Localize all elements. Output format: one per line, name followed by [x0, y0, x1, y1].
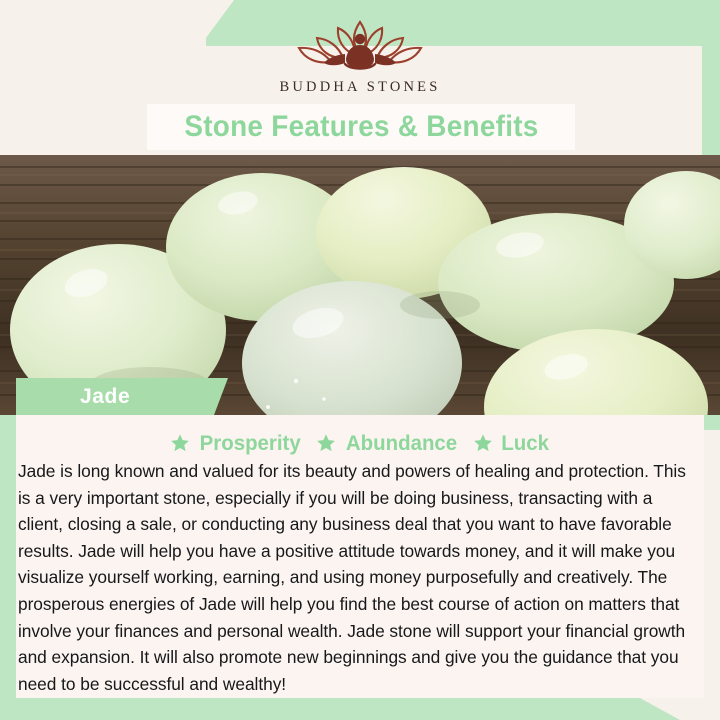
- stone-info-card: BUDDHA STONES Stone Features & Benefits: [0, 0, 720, 720]
- brand-name: BUDDHA STONES: [280, 79, 441, 96]
- benefit-item-prosperity: Prosperity: [170, 431, 303, 456]
- stone-name-badge: Jade: [16, 378, 228, 415]
- stone-name-label: Jade: [80, 385, 130, 409]
- lotus-meditation-icon: [275, 14, 445, 76]
- benefit-label: Abundance: [346, 431, 457, 456]
- page-title: Stone Features & Benefits: [184, 110, 538, 144]
- stone-description: Jade is long known and valued for its be…: [18, 458, 694, 697]
- star-icon: [316, 433, 336, 453]
- stone-photo: [0, 155, 720, 415]
- benefit-label: Luck: [501, 431, 549, 456]
- decorative-bottom-green-band: [0, 698, 720, 720]
- benefits-row: Prosperity Abundance Luck: [16, 428, 704, 458]
- star-icon: [170, 433, 190, 453]
- star-icon: [473, 433, 493, 453]
- stone-photo-image: [0, 155, 720, 415]
- benefit-item-luck: Luck: [473, 431, 550, 456]
- title-banner: Stone Features & Benefits: [147, 104, 575, 150]
- brand-logo: BUDDHA STONES: [0, 14, 720, 106]
- benefit-item-abundance: Abundance: [316, 431, 460, 456]
- benefit-label: Prosperity: [199, 431, 300, 456]
